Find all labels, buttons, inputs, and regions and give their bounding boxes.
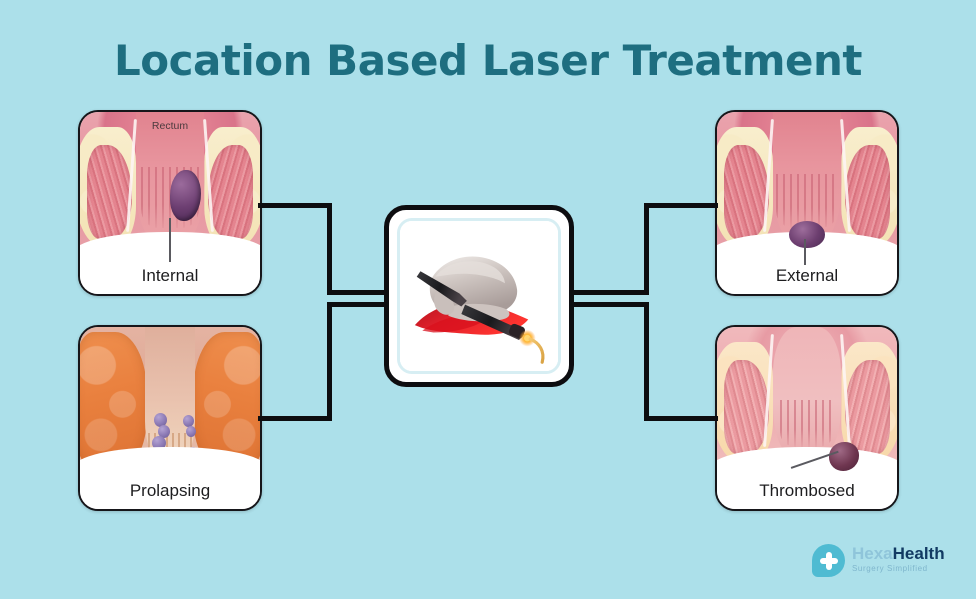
logo-name-part1: Hexa	[852, 544, 893, 563]
center-laser-box[interactable]	[384, 205, 574, 387]
connector-internal-vertical	[327, 203, 332, 295]
medical-cross-icon	[820, 552, 838, 570]
card-external[interactable]: External	[715, 110, 899, 296]
connector-prolapsing-to-center	[327, 302, 389, 307]
center-inner-frame	[397, 218, 561, 374]
connector-internal-horizontal	[258, 203, 332, 208]
card-thrombosed[interactable]: Thrombosed	[715, 325, 899, 511]
logo-name-part2: Health	[893, 544, 945, 563]
card-prolapsing-label: Prolapsing	[80, 481, 260, 501]
logo-text-block: HexaHealth Surgery Simplified	[852, 545, 945, 573]
card-internal-label: Internal	[80, 266, 260, 286]
external-pointer-line	[804, 239, 806, 265]
connector-prolapsing-horizontal	[258, 416, 332, 421]
internal-pointer-line	[169, 218, 171, 262]
card-prolapsing[interactable]: Prolapsing	[78, 325, 262, 511]
infographic-canvas: Location Based Laser Treatment Rectum In…	[0, 0, 976, 599]
laser-hand-illustration	[400, 221, 558, 372]
logo-tagline: Surgery Simplified	[852, 564, 945, 573]
connector-external-horizontal	[644, 203, 718, 208]
page-title: Location Based Laser Treatment	[0, 36, 976, 85]
card-external-label: External	[717, 266, 897, 286]
connector-internal-to-center	[327, 290, 389, 295]
card-thrombosed-label: Thrombosed	[717, 481, 897, 501]
card-internal[interactable]: Rectum Internal	[78, 110, 262, 296]
connector-prolapsing-vertical	[327, 302, 332, 421]
hexahealth-logo-mark-icon	[812, 544, 845, 577]
connector-external-to-center	[570, 290, 649, 295]
connector-thrombosed-vertical	[644, 302, 649, 421]
connector-thrombosed-horizontal	[644, 416, 718, 421]
connector-thrombosed-to-center	[570, 302, 649, 307]
card-internal-sublabel: Rectum	[80, 120, 260, 132]
connector-external-vertical	[644, 203, 649, 295]
hexahealth-logo[interactable]: HexaHealth Surgery Simplified	[812, 541, 960, 581]
